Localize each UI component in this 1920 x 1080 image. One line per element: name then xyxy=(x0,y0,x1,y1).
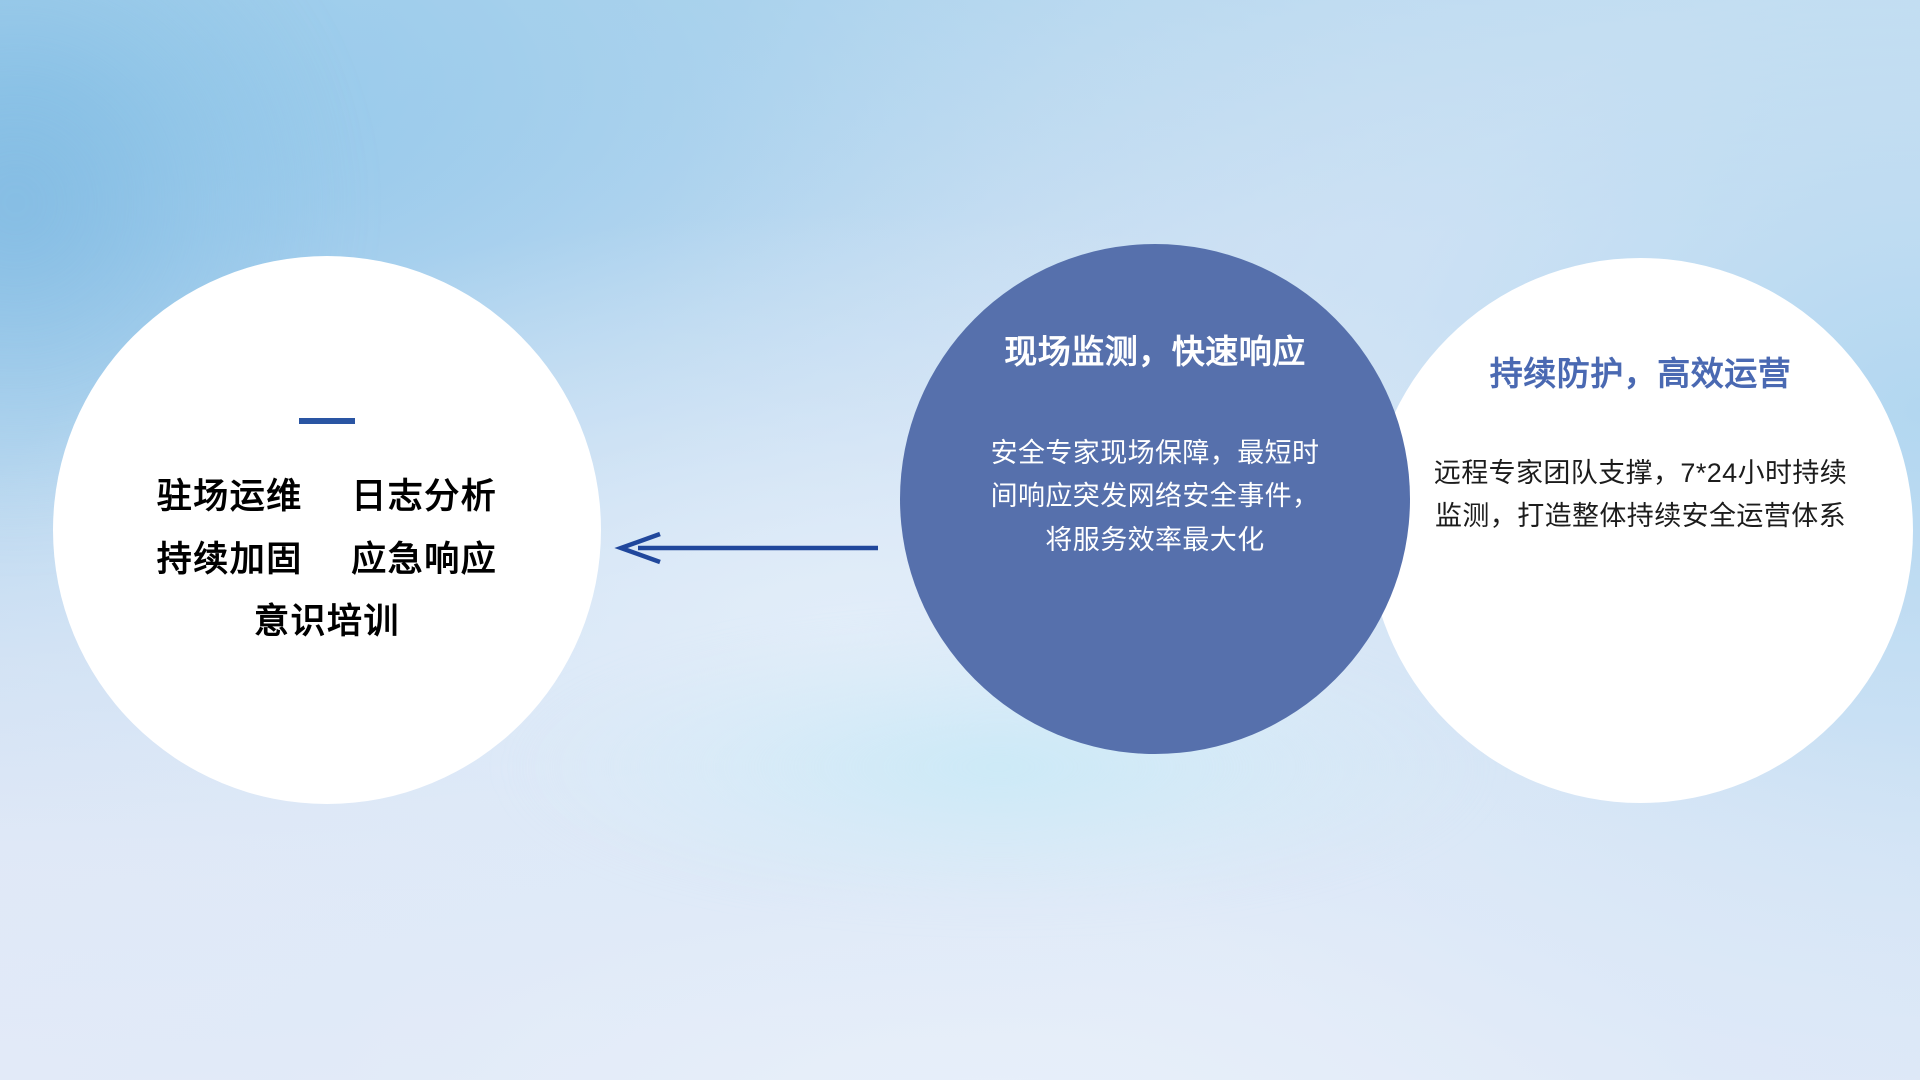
continuous-protection-body: 远程专家团队支撑，7*24小时持续监测，打造整体持续安全运营体系 xyxy=(1431,452,1851,539)
onsite-monitoring-circle[interactable]: 现场监测，快速响应 安全专家现场保障，最短时间响应突发网络安全事件，将服务效率最… xyxy=(900,244,1410,754)
capability-list: 驻场运维 日志分析 持续加固 应急响应 意识培训 xyxy=(157,478,498,642)
onsite-monitoring-content: 现场监测，快速响应 安全专家现场保障，最短时间响应突发网络安全事件，将服务效率最… xyxy=(955,244,1355,563)
slide-canvas: 驻场运维 日志分析 持续加固 应急响应 意识培训 持续防护，高效运营 远程专家团… xyxy=(0,0,1920,1080)
list-item: 意识培训 xyxy=(254,603,400,642)
capability-label: 驻场运维 xyxy=(157,477,303,516)
capability-label: 应急响应 xyxy=(351,540,497,579)
continuous-protection-circle[interactable]: 持续防护，高效运营 远程专家团队支撑，7*24小时持续监测，打造整体持续安全运营… xyxy=(1368,258,1913,803)
flow-arrow-icon xyxy=(621,534,878,562)
list-item: 持续加固 应急响应 xyxy=(157,541,498,580)
capability-label: 意识培训 xyxy=(254,602,400,641)
onsite-monitoring-title: 现场监测，快速响应 xyxy=(1004,332,1306,372)
continuous-protection-content: 持续防护，高效运营 远程专家团队支撑，7*24小时持续监测，打造整体持续安全运营… xyxy=(1426,258,1856,539)
capability-label: 日志分析 xyxy=(351,477,497,516)
onsite-monitoring-body: 安全专家现场保障，最短时间响应突发网络安全事件，将服务效率最大化 xyxy=(990,432,1320,563)
capability-label: 持续加固 xyxy=(157,540,303,579)
divider-dash xyxy=(299,418,355,424)
continuous-protection-title: 持续防护，高效运营 xyxy=(1490,354,1792,394)
list-item: 驻场运维 日志分析 xyxy=(157,478,498,517)
capabilities-circle[interactable]: 驻场运维 日志分析 持续加固 应急响应 意识培训 xyxy=(53,256,601,804)
